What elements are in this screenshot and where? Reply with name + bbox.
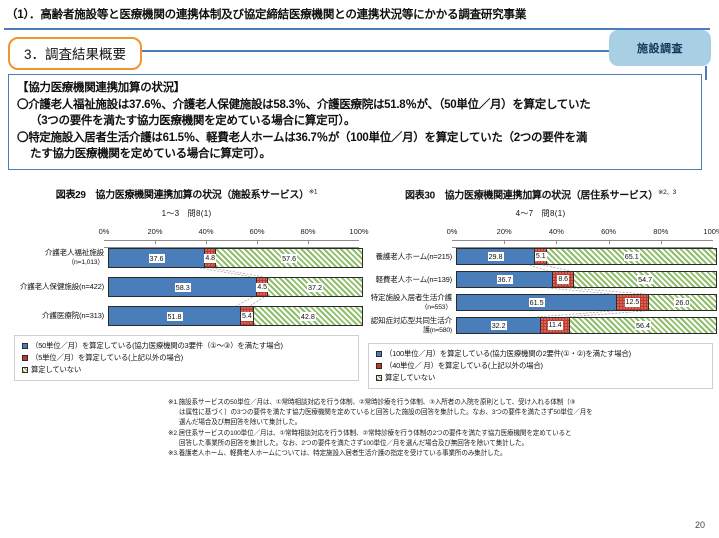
- legend-label: （50単位／月）を算定している(協力医療機関の3要件（①～③）を満たす場合): [31, 340, 283, 352]
- x-axis-tick-3: 60%: [601, 227, 616, 236]
- header-divider: [4, 28, 710, 30]
- chart-title-30-sup: ※2、3: [658, 189, 676, 196]
- x-axis-tick-5: 100%: [349, 227, 368, 236]
- bar-row: 介護医療院(n=313)51.85.442.8: [14, 306, 359, 326]
- bar-category-n: 護(n=580): [368, 326, 452, 336]
- survey-badge: 施設調査: [609, 30, 711, 66]
- footnote-1b: は属性に基づく〕の3つの要件を満たす協力医療機関を定めていると回答した施設の回答…: [168, 408, 714, 418]
- x-axis-tick-1: 20%: [497, 227, 512, 236]
- grid-tick-4: [661, 241, 662, 244]
- bar-segment: 61.5: [457, 295, 616, 310]
- legend-item: 算定していない: [22, 364, 353, 376]
- bar-value-label: 37.2: [307, 283, 323, 292]
- bar-category-label: 特定施設入居者生活介護（n=553）: [368, 293, 456, 313]
- bar-value-label: 61.5: [529, 298, 545, 307]
- bar-value-label: 32.2: [491, 321, 507, 330]
- bar-category-name: 認知症対応型共同生活介: [368, 316, 452, 326]
- legend-swatch: [376, 363, 382, 369]
- bar-segment: 56.4: [570, 318, 716, 333]
- footnote-2: ※2.居住系サービスの100単位／月は、①常時相談対応を行う体制、②常時診療を行…: [168, 429, 714, 439]
- x-axis-tick-4: 80%: [300, 227, 315, 236]
- bar-value-label: 57.6: [281, 254, 297, 263]
- bar-category-label: 認知症対応型共同生活介護(n=580): [368, 316, 456, 336]
- bar-category-name: 特定施設入居者生活介護: [368, 293, 452, 303]
- grid-tick-3: [257, 241, 258, 244]
- section-chip: 3．調査結果概要: [8, 37, 142, 70]
- footnotes: ※1.施設系サービスの50単位／月は、①常時相談対応を行う体制、②常時診療を行う…: [168, 398, 714, 459]
- legend-label: （40単位／ 月）を算定している(上記以外の場合): [385, 360, 543, 372]
- chart-figure-29: 図表29 協力医療機関連携加算の状況（施設系サービス）※1 1～3 問8(1) …: [14, 186, 359, 381]
- bar-category-label: 介護医療院(n=313): [14, 311, 108, 321]
- bar-segment: 5.1: [534, 249, 547, 264]
- legend-swatch: [22, 367, 28, 373]
- plot-grid: [104, 240, 359, 248]
- bar-category-n: （n=1,013）: [14, 258, 104, 268]
- legend-item: 算定していない: [376, 372, 707, 384]
- x-axis-tick-4: 80%: [653, 227, 668, 236]
- legend-item: （100単位／月）を算定している(協力医療機関の2要件(①・②)を満たす場合): [376, 348, 707, 360]
- chart-title-29-sup: ※1: [309, 189, 317, 196]
- bar-segment: 57.6: [216, 249, 362, 267]
- bar-value-label: 42.8: [300, 312, 316, 321]
- legend-label: 算定していない: [31, 364, 81, 376]
- bar-value-label: 58.3: [175, 283, 191, 292]
- x-axis-tick-1: 20%: [147, 227, 162, 236]
- summary-line-2: 〇特定施設入居者生活介護は61.5％、軽費老人ホームは36.7％が（100単位／…: [17, 130, 693, 147]
- legend-swatch: [376, 351, 382, 357]
- bar-value-label: 26.0: [674, 298, 690, 307]
- bar-segment: 36.7: [457, 272, 552, 287]
- bar-value-label: 65.1: [624, 252, 640, 261]
- bar-segment: 37.6: [109, 249, 204, 267]
- bar-value-label: 11.4: [548, 321, 563, 330]
- section-divider: [90, 50, 650, 52]
- bar-segment: 29.8: [457, 249, 534, 264]
- bar-value-label: 54.7: [637, 275, 653, 284]
- grid-tick-1: [155, 241, 156, 244]
- legend-item: （5単位／月）を算定している(上記以外の場合): [22, 352, 353, 364]
- legend-30: （100単位／月）を算定している(協力医療機関の2要件(①・②)を満たす場合)（…: [368, 343, 713, 389]
- footnote-2b: 回答した事業所の回答を集計した。なお、2つの要件を満たさず100単位／月を選んだ…: [168, 439, 714, 449]
- bar-value-label: 56.4: [635, 321, 651, 330]
- survey-badge-connector: [705, 66, 707, 80]
- bar-track: 37.64.857.6: [108, 248, 363, 268]
- bar-category-name: 介護医療院(n=313): [14, 311, 104, 321]
- bar-row: 特定施設入居者生活介護（n=553）61.512.526.0: [368, 294, 713, 311]
- page-title: （1）．高齢者施設等と医療機関の連携体制及び協定締結医療機関との連携状況等にかか…: [6, 6, 526, 22]
- bar-track: 61.512.526.0: [456, 294, 717, 311]
- bar-segment: 54.7: [574, 272, 716, 287]
- grid-tick-2: [206, 241, 207, 244]
- legend-swatch: [376, 375, 382, 381]
- bar-segment: 37.2: [268, 278, 362, 296]
- summary-heading: 【協力医療機関連携加算の状況】: [17, 80, 693, 97]
- legend-swatch: [22, 343, 28, 349]
- bar-row: 養護老人ホーム(n=215)29.85.165.1: [368, 248, 713, 265]
- plot-area-30: 0%20%40%60%80%100%養護老人ホーム(n=215)29.85.16…: [368, 227, 713, 334]
- bar-category-name: 介護老人保健施設(n=422): [14, 282, 104, 292]
- chart-title-30-text: 図表30 協力医療機関連携加算の状況（居住系サービス）: [405, 190, 658, 201]
- x-axis-tick-2: 40%: [549, 227, 564, 236]
- bar-category-name: 軽費老人ホーム(n=139): [368, 275, 452, 285]
- bar-value-label: 4.8: [204, 254, 216, 263]
- x-axis-tick-5: 100%: [703, 227, 719, 236]
- bar-category-n: （n=553）: [368, 303, 452, 313]
- plot-grid: [452, 240, 713, 248]
- bar-value-label: 51.8: [167, 312, 183, 321]
- chart-title-29-text: 図表29 協力医療機関連携加算の状況（施設系サービス）: [56, 190, 309, 201]
- summary-line-1b: （3つの要件を満たす協力医療機関を定めている場合に算定可）。: [17, 113, 693, 130]
- chart-figure-30: 図表30 協力医療機関連携加算の状況（居住系サービス）※2、3 4～7 問8(1…: [368, 186, 713, 389]
- bar-value-label: 5.1: [535, 252, 547, 261]
- x-axis-tick-0: 0%: [99, 227, 110, 236]
- x-axis-tick-0: 0%: [447, 227, 458, 236]
- grid-tick-2: [556, 241, 557, 244]
- legend-label: （100単位／月）を算定している(協力医療機関の2要件(①・②)を満たす場合): [385, 348, 631, 360]
- bar-track: 51.85.442.8: [108, 306, 363, 326]
- x-axis-tick-2: 40%: [198, 227, 213, 236]
- bar-segment: 4.8: [204, 249, 216, 267]
- chart-subtitle-30: 4～7 問8(1): [368, 208, 713, 219]
- summary-box: 【協力医療機関連携加算の状況】 〇介護老人福祉施設は37.6％、介護老人保健施設…: [8, 74, 702, 170]
- bar-row: 介護老人福祉施設（n=1,013）37.64.857.6: [14, 248, 359, 268]
- legend-swatch: [22, 355, 28, 361]
- grid-tick-3: [609, 241, 610, 244]
- bar-value-label: 36.7: [497, 275, 513, 284]
- plot-area-29: 0%20%40%60%80%100%介護老人福祉施設（n=1,013）37.64…: [14, 227, 359, 326]
- bar-segment: 5.4: [240, 307, 254, 325]
- grid-tick-4: [308, 241, 309, 244]
- bar-track: 58.34.537.2: [108, 277, 363, 297]
- bar-value-label: 29.8: [488, 252, 504, 261]
- bar-row: 介護老人保健施設(n=422)58.34.537.2: [14, 277, 359, 297]
- bar-category-label: 介護老人保健施設(n=422): [14, 282, 108, 292]
- x-axis-tick-3: 60%: [249, 227, 264, 236]
- bar-value-label: 12.5: [625, 298, 641, 307]
- legend-item: （50単位／月）を算定している(協力医療機関の3要件（①～③）を満たす場合): [22, 340, 353, 352]
- bar-row: 認知症対応型共同生活介護(n=580)32.211.456.4: [368, 317, 713, 334]
- bar-segment: 42.8: [254, 307, 362, 325]
- bar-category-label: 養護老人ホーム(n=215): [368, 252, 456, 262]
- footnote-1c: 選んだ場合及び無回答を除いて集計した。: [168, 418, 714, 428]
- bar-value-label: 5.4: [241, 312, 253, 321]
- summary-line-2b: たす協力医療機関を定めている場合に算定可）。: [17, 146, 693, 163]
- x-axis-labels: 0%20%40%60%80%100%: [14, 227, 359, 240]
- x-axis-labels: 0%20%40%60%80%100%: [368, 227, 713, 240]
- bar-track: 36.78.654.7: [456, 271, 717, 288]
- bar-category-label: 軽費老人ホーム(n=139): [368, 275, 456, 285]
- bar-segment: 51.8: [109, 307, 240, 325]
- legend-label: （5単位／月）を算定している(上記以外の場合): [31, 352, 183, 364]
- grid-tick-1: [504, 241, 505, 244]
- bar-value-label: 37.6: [149, 254, 165, 263]
- bar-track: 29.85.165.1: [456, 248, 717, 265]
- chart-title-29: 図表29 協力医療機関連携加算の状況（施設系サービス）※1: [14, 186, 359, 201]
- footnote-3: ※3.養護老人ホーム、軽費老人ホームについては、特定施設入居者生活介護の指定を受…: [168, 449, 714, 459]
- bar-segment: 32.2: [457, 318, 540, 333]
- bar-category-name: 養護老人ホーム(n=215): [368, 252, 452, 262]
- bar-category-label: 介護老人福祉施設（n=1,013）: [14, 248, 108, 268]
- legend-29: （50単位／月）を算定している(協力医療機関の3要件（①～③）を満たす場合)（5…: [14, 335, 359, 381]
- chart-title-30: 図表30 協力医療機関連携加算の状況（居住系サービス）※2、3: [368, 186, 713, 201]
- bar-value-label: 4.5: [256, 283, 268, 292]
- bar-track: 32.211.456.4: [456, 317, 717, 334]
- bar-value-label: 8.6: [557, 275, 569, 284]
- bar-segment: 65.1: [547, 249, 716, 264]
- bar-category-name: 介護老人福祉施設: [14, 248, 104, 258]
- bar-segment: 11.4: [540, 318, 570, 333]
- bar-row: 軽費老人ホーム(n=139)36.78.654.7: [368, 271, 713, 288]
- bar-segment: 4.5: [256, 278, 267, 296]
- chart-subtitle-29: 1～3 問8(1): [14, 208, 359, 219]
- summary-line-1: 〇介護老人福祉施設は37.6％、介護老人保健施設は58.3％、介護医療院は51.…: [17, 97, 693, 114]
- footnote-1: ※1.施設系サービスの50単位／月は、①常時相談対応を行う体制、②常時診療を行う…: [168, 398, 714, 408]
- legend-item: （40単位／ 月）を算定している(上記以外の場合): [376, 360, 707, 372]
- bar-segment: 58.3: [109, 278, 256, 296]
- page-number: 20: [695, 520, 705, 530]
- bar-segment: 12.5: [616, 295, 648, 310]
- bar-segment: 8.6: [552, 272, 574, 287]
- legend-label: 算定していない: [385, 372, 435, 384]
- bar-segment: 26.0: [649, 295, 716, 310]
